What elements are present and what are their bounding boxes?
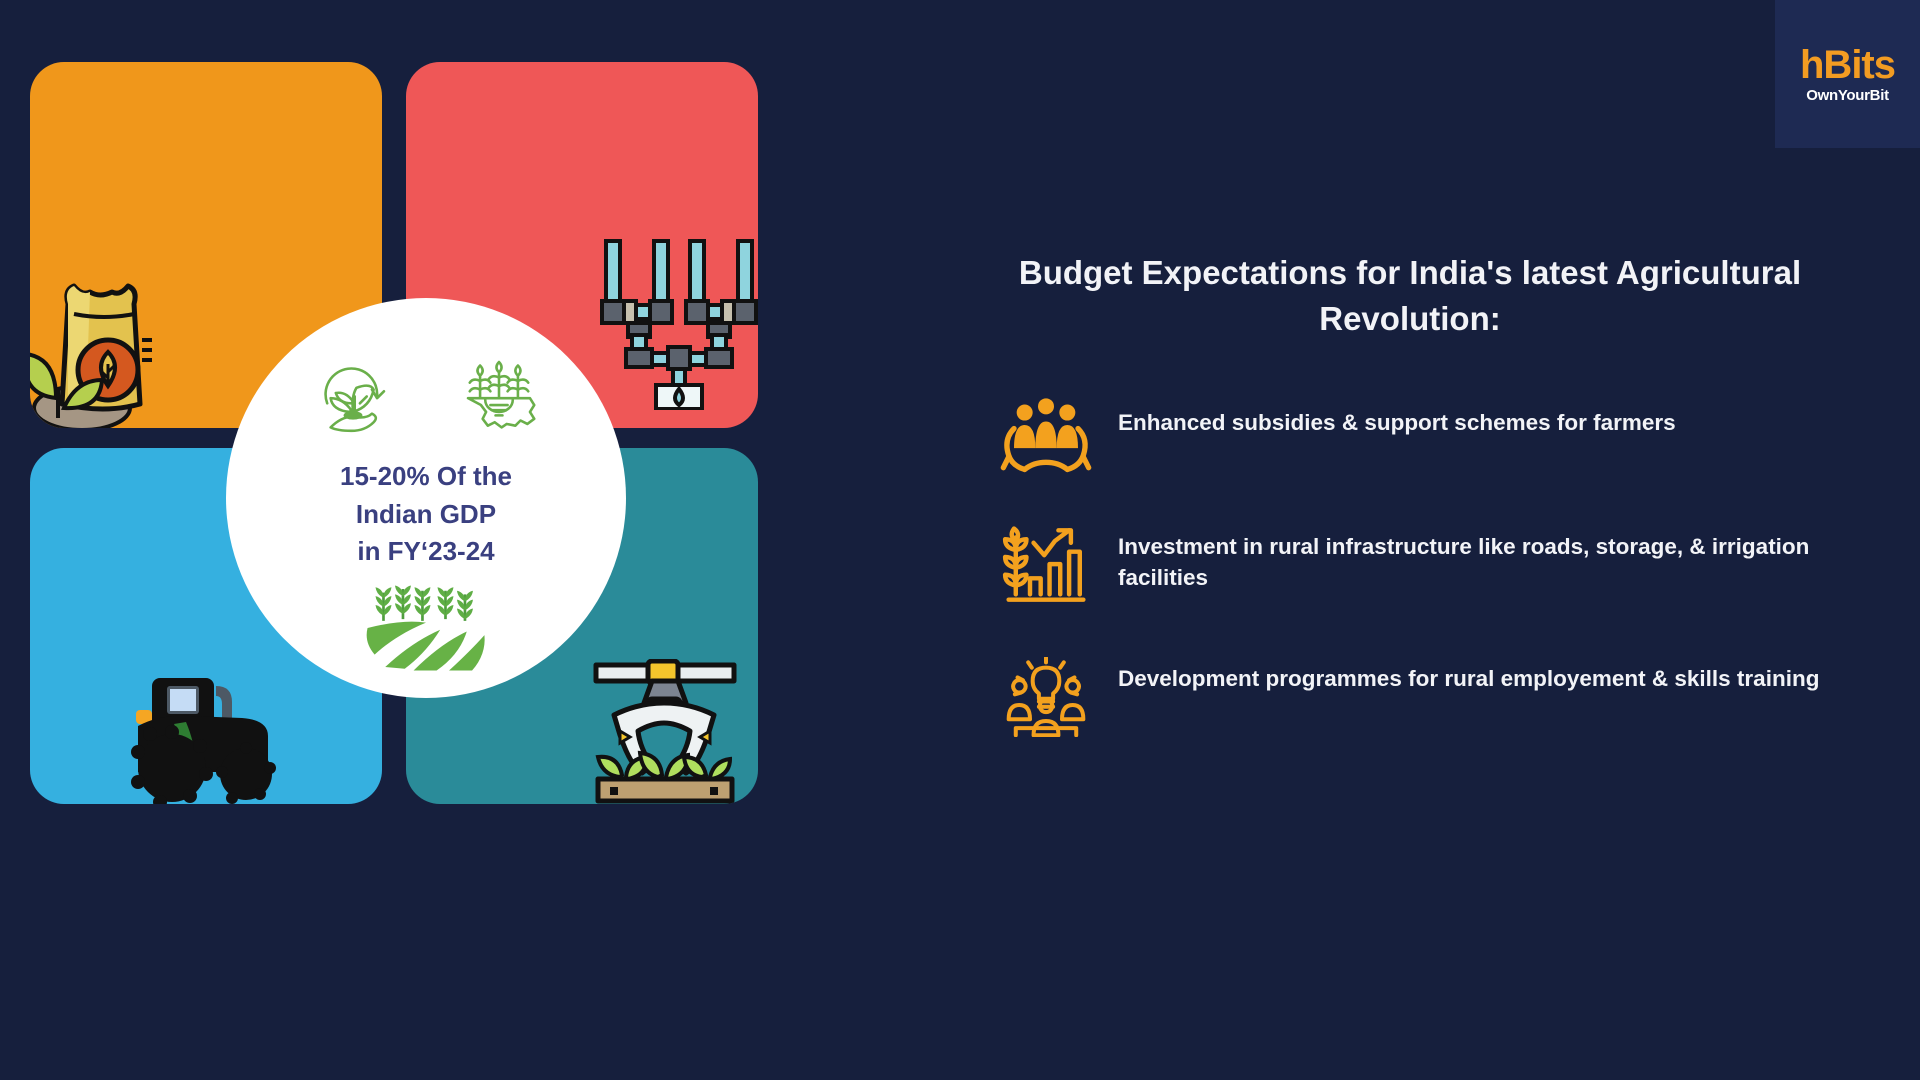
- idea-team-training-icon: [1000, 657, 1092, 737]
- robotic-harvester-icon: [590, 659, 740, 804]
- gdp-line-2: Indian GDP: [340, 496, 512, 534]
- bullet-list: Enhanced subsidies & support schemes for…: [1000, 393, 1880, 737]
- sustainable-growth-icon: [310, 350, 396, 436]
- logo-tagline: OwnYourBit: [1806, 87, 1889, 104]
- hands-supporting-people-icon: [1000, 393, 1092, 473]
- gdp-statistic-text: 15-20% Of the Indian GDP in FY‘23-24: [340, 458, 512, 571]
- image-collage: 15-20% Of the Indian GDP in FY‘23-24: [30, 62, 766, 804]
- gdp-line-3: in FY‘23-24: [340, 533, 512, 571]
- list-item-label: Investment in rural infrastructure like …: [1118, 525, 1828, 593]
- brand-logo: hBits OwnYourBit: [1775, 0, 1920, 148]
- list-item: Investment in rural infrastructure like …: [1000, 525, 1880, 605]
- list-item-label: Development programmes for rural employe…: [1118, 657, 1819, 694]
- circle-icon-row: [310, 350, 542, 436]
- tractor-icon: [120, 664, 300, 804]
- wheat-growth-chart-icon: [1000, 525, 1092, 605]
- smart-farming-gear-icon: [456, 350, 542, 436]
- list-item: Enhanced subsidies & support schemes for…: [1000, 393, 1880, 473]
- gdp-highlight-circle: 15-20% Of the Indian GDP in FY‘23-24: [226, 298, 626, 698]
- list-item-label: Enhanced subsidies & support schemes for…: [1118, 393, 1676, 438]
- list-item: Development programmes for rural employe…: [1000, 657, 1880, 737]
- page-title: Budget Expectations for India's latest A…: [1000, 250, 1820, 341]
- content-column: Budget Expectations for India's latest A…: [1000, 250, 1880, 789]
- seed-sack-icon: [30, 268, 194, 428]
- gdp-line-1: 15-20% Of the: [340, 458, 512, 496]
- irrigation-pipes-icon: [594, 235, 758, 410]
- wheat-field-icon: [364, 585, 488, 671]
- logo-wordmark: hBits: [1800, 45, 1895, 85]
